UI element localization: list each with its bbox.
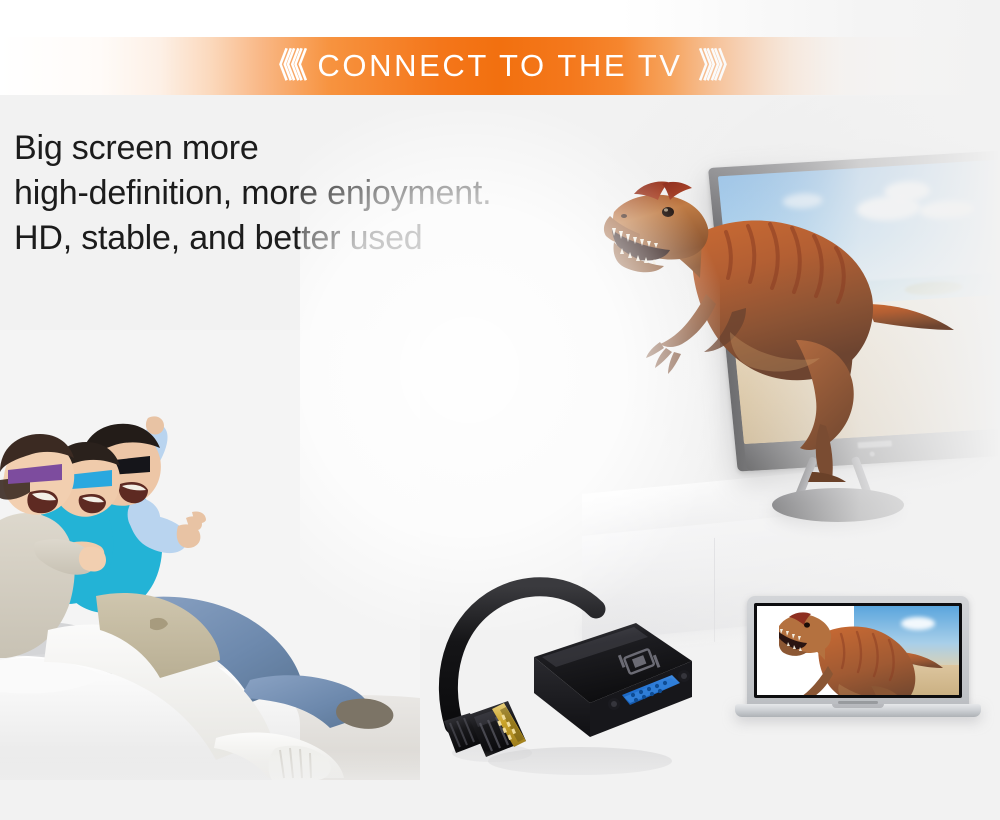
headline-line-1: Big screen more (14, 126, 614, 171)
headline-text: Big screen more high-definition, more en… (14, 126, 614, 261)
right-chevrons-icon: 》》》 (699, 49, 735, 83)
marketing-page: 《《《 CONNECT TO THE TV 》》》 Big screen mor… (0, 0, 1000, 820)
tv-scene (596, 96, 1000, 656)
laptop-screen (754, 603, 962, 698)
banner-title: CONNECT TO THE TV (317, 48, 682, 84)
laptop-lid (747, 596, 969, 708)
dinosaur-on-laptop (779, 612, 947, 695)
hdmi-to-vga-adapter (430, 575, 700, 790)
connect-to-tv-banner: 《《《 CONNECT TO THE TV 》》》 (0, 37, 1000, 95)
dinosaur-3d (598, 154, 958, 484)
tv-stand-base (772, 488, 904, 522)
headline-line-2: high-definition, more enjoyment. (14, 171, 614, 216)
laptop-base (735, 704, 981, 717)
family-watching-3d-tv (0, 330, 420, 780)
laptop (735, 596, 985, 736)
headline-line-3: HD, stable, and better used (14, 216, 614, 261)
top-white-strip (0, 0, 1000, 37)
left-chevrons-icon: 《《《 (265, 49, 301, 83)
